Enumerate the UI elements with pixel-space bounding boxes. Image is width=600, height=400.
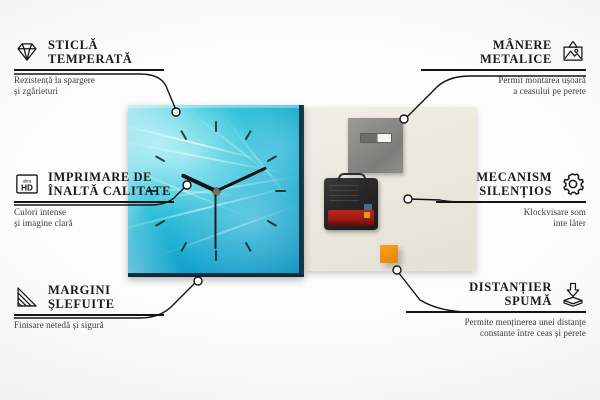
battery-terminal — [364, 212, 370, 218]
callout-manere-metalice: MÂNERE METALICE Permit montarea ușoară a… — [421, 38, 586, 97]
svg-text:HD: HD — [21, 184, 33, 193]
hour-marker — [267, 220, 278, 227]
callout-sub-line2: a ceasului pe perete — [421, 86, 586, 97]
callout-rule — [14, 69, 164, 71]
diamond-icon — [14, 39, 40, 65]
clock-mechanism — [324, 178, 378, 230]
callout-title-line2: ÎNALTĂ CALITATE — [48, 184, 171, 198]
callout-rule — [421, 69, 586, 71]
hour-marker — [267, 155, 278, 162]
hour-marker — [215, 250, 217, 261]
callout-sub-line2: și imagine clară — [14, 218, 174, 229]
callout-sub-line2: și zgârieturi — [14, 86, 164, 97]
picture-frame-hook-icon — [560, 39, 586, 65]
battery — [328, 210, 374, 226]
mechanism-loop — [338, 173, 366, 184]
svg-text:ultra: ultra — [23, 178, 32, 183]
callout-distantier-spuma: DISTANȚIER SPUMĂ Permite menținerea unei… — [406, 280, 586, 339]
hour-marker — [155, 155, 166, 162]
callout-rule — [14, 201, 174, 203]
callout-title-line1: MÂNERE — [480, 38, 552, 52]
callout-sub-line2: constante între ceas și perete — [406, 328, 586, 339]
gear-icon — [560, 171, 586, 197]
callout-title-line2: TEMPERATĂ — [48, 52, 132, 66]
callout-title-line2: SILENȚIOS — [476, 184, 552, 198]
callout-mecanism-silentios: MECANISM SILENȚIOS Klockvisare som inte … — [436, 170, 586, 229]
callout-sub-line1: Culori intense — [14, 207, 174, 218]
callout-sub-line1: Rezistență la spargere — [14, 75, 164, 86]
leader-dot-margini — [194, 277, 202, 285]
hour-marker — [245, 130, 252, 141]
hour-marker — [180, 130, 187, 141]
hour-marker — [180, 242, 187, 253]
infographic-canvas: STICLĂ TEMPERATĂ Rezistență la spargere … — [0, 0, 600, 400]
panel-right-edge — [299, 105, 304, 277]
polished-edge-icon — [14, 284, 40, 310]
callout-sub-line2: inte låter — [436, 218, 586, 229]
callout-rule — [406, 311, 586, 313]
callout-title-line1: DISTANȚIER — [469, 280, 552, 294]
hanger-slot — [360, 133, 392, 143]
metal-hanger-plate — [348, 118, 403, 173]
hour-marker — [215, 121, 217, 132]
callout-rule — [436, 201, 586, 203]
mechanism-vents — [329, 185, 359, 205]
callout-title-line2: SPUMĂ — [469, 294, 552, 308]
minute-hand — [215, 166, 266, 192]
callout-title-line1: STICLĂ — [48, 38, 132, 52]
callout-title-line1: MECANISM — [476, 170, 552, 184]
callout-imprimare-hd: ultra HD IMPRIMARE DE ÎNALTĂ CALITATE Cu… — [14, 170, 174, 229]
callout-title-line1: IMPRIMARE DE — [48, 170, 171, 184]
callout-margini-slefuite: MARGINI ŞLEFUITE Finisare netedă și sigu… — [14, 283, 164, 331]
callout-rule — [14, 314, 164, 316]
ultra-hd-icon: ultra HD — [14, 171, 40, 197]
callout-sticla-temperata: STICLĂ TEMPERATĂ Rezistență la spargere … — [14, 38, 164, 97]
product-image — [128, 105, 476, 277]
panel-top-edge — [128, 105, 304, 108]
panel-bottom-edge — [128, 273, 304, 277]
foam-spacer — [380, 245, 398, 263]
callout-sub-line1: Permite menținerea unei distanțe — [406, 317, 586, 328]
hour-marker — [275, 190, 286, 192]
callout-title-line2: METALICE — [480, 52, 552, 66]
callout-title-line2: ŞLEFUITE — [48, 297, 115, 311]
callout-sub-line1: Klockvisare som — [436, 207, 586, 218]
callout-sub-line1: Permit montarea ușoară — [421, 75, 586, 86]
hand-cap — [213, 188, 220, 195]
second-hand — [215, 191, 217, 249]
spacer-arrow-icon — [560, 281, 586, 307]
callout-title-line1: MARGINI — [48, 283, 115, 297]
hour-hand — [181, 173, 217, 193]
callout-sub-line1: Finisare netedă și sigură — [14, 320, 164, 331]
hour-marker — [245, 242, 252, 253]
